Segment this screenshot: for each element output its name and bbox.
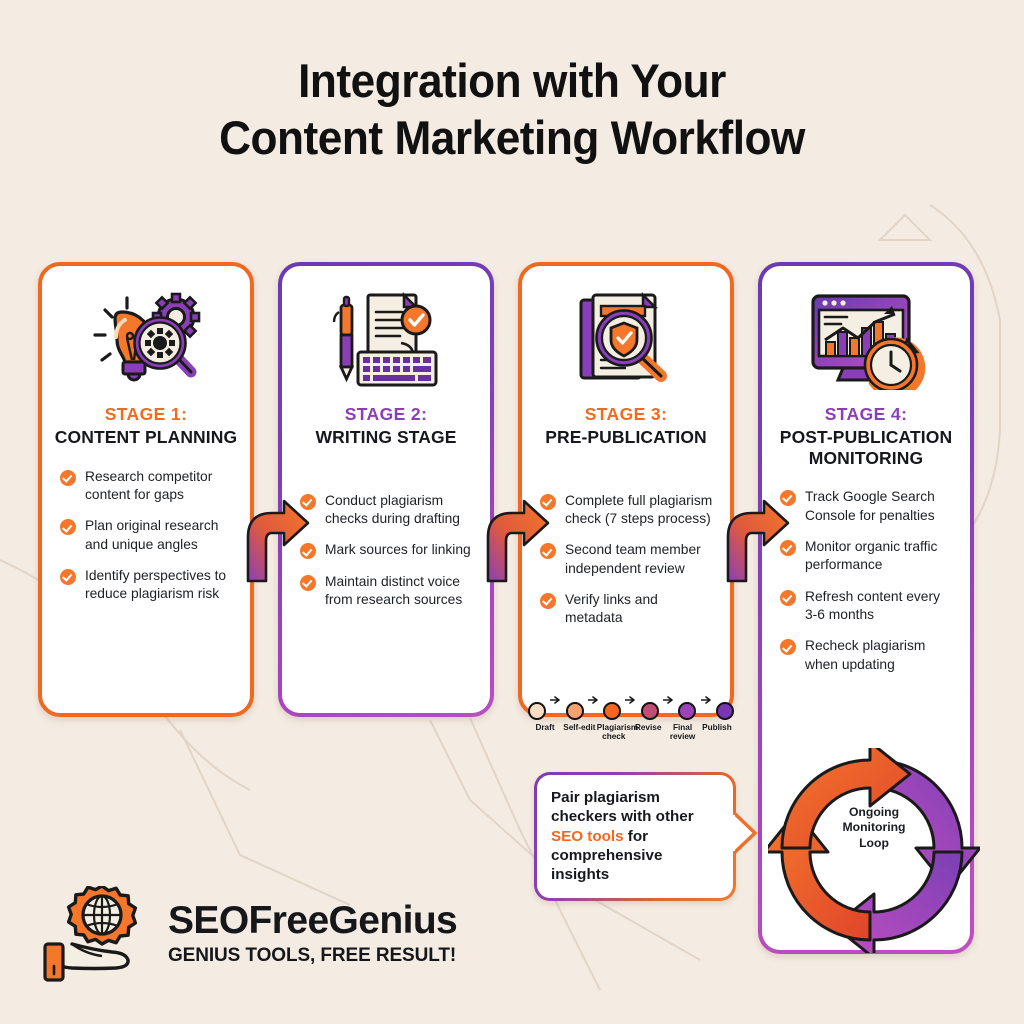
lightbulb-gear-magnifier-icon xyxy=(54,286,238,394)
stage-bullets-4: Track Google Search Console for penaltie… xyxy=(774,488,958,674)
check-icon xyxy=(540,593,556,609)
stage-kicker-3: STAGE 3: xyxy=(534,404,718,425)
list-item: Maintain distinct voice from research so… xyxy=(300,573,474,610)
check-icon xyxy=(780,639,796,655)
callout-highlight: SEO tools xyxy=(551,828,624,845)
stage-kicker-4: STAGE 4: xyxy=(774,404,958,425)
stage-card-2[interactable]: STAGE 2: WRITING STAGE Conduct plagiaris… xyxy=(278,262,494,717)
callout-text-before: Pair plagiarism checkers with other xyxy=(551,789,694,825)
timeline-dot-final-review xyxy=(678,702,696,720)
stage-name-3: PRE-PUBLICATION xyxy=(534,427,718,448)
list-item: Identify perspectives to reduce plagiari… xyxy=(60,567,234,604)
stage-name-2: WRITING STAGE xyxy=(294,427,478,448)
stage-name-1: CONTENT PLANNING xyxy=(54,427,238,448)
timeline-label: Final review xyxy=(666,723,700,741)
loop-label-line-2: Monitoring xyxy=(768,820,980,835)
list-item: Track Google Search Console for penaltie… xyxy=(780,488,954,525)
timeline-dots xyxy=(528,702,734,720)
stage-bullets-3: Complete full plagiarism check (7 steps … xyxy=(534,492,718,628)
list-item: Monitor organic traffic performance xyxy=(780,538,954,575)
list-item: Plan original research and unique angles xyxy=(60,517,234,554)
stage-card-1[interactable]: STAGE 1: CONTENT PLANNING Research compe… xyxy=(38,262,254,717)
timeline-labels: Draft Self-edit Plagiarism check Revise … xyxy=(528,723,734,741)
timeline-label: Draft xyxy=(528,723,562,741)
connector-arrow-1-to-2 xyxy=(238,497,312,583)
stage-kicker-1: STAGE 1: xyxy=(54,404,238,425)
brand-name: SEOFreeGenius xyxy=(168,901,457,940)
callout-text: Pair plagiarism checkers with other SEO … xyxy=(551,788,719,884)
loop-label-line-3: Loop xyxy=(768,836,980,851)
list-item: Mark sources for linking xyxy=(300,541,474,559)
brand-logo: SEOFreeGenius GENIUS TOOLS, FREE RESULT! xyxy=(42,886,457,982)
connector-arrow-3-to-4 xyxy=(718,497,792,583)
check-icon xyxy=(60,569,76,585)
timeline-dot-self-edit xyxy=(566,702,584,720)
timeline-arrow-icon xyxy=(625,695,636,705)
list-item: Recheck plagiarism when updating xyxy=(780,637,954,674)
timeline-dot-draft xyxy=(528,702,546,720)
loop-label: Ongoing Monitoring Loop xyxy=(768,805,980,851)
page-title: Integration with Your Content Marketing … xyxy=(31,52,994,167)
timeline-dot-plagiarism-check xyxy=(603,702,621,720)
check-icon xyxy=(60,519,76,535)
page-title-line-1: Integration with Your xyxy=(31,52,994,109)
document-shield-magnifier-icon xyxy=(534,286,718,394)
connector-arrow-2-to-3 xyxy=(478,497,552,583)
list-item: Complete full plagiarism check (7 steps … xyxy=(540,492,714,529)
page-title-line-2: Content Marketing Workflow xyxy=(31,109,994,166)
loop-label-line-1: Ongoing xyxy=(768,805,980,820)
timeline-arrow-icon xyxy=(701,695,712,705)
timeline-label: Publish xyxy=(700,723,734,741)
list-item: Refresh content every 3-6 months xyxy=(780,588,954,625)
stage-bullets-1: Research competitor content for gaps Pla… xyxy=(54,468,238,604)
list-item: Verify links and metadata xyxy=(540,591,714,628)
timeline-dot-publish xyxy=(716,702,734,720)
timeline-arrow-icon xyxy=(588,695,599,705)
monitor-chart-clock-icon xyxy=(774,286,958,394)
stage-bullets-2: Conduct plagiarism checks during draftin… xyxy=(294,492,478,610)
stage-kicker-2: STAGE 2: xyxy=(294,404,478,425)
timeline-dot-revise xyxy=(641,702,659,720)
check-icon xyxy=(780,590,796,606)
timeline-label: Revise xyxy=(631,723,665,741)
list-item: Research competitor content for gaps xyxy=(60,468,234,505)
stage-card-3[interactable]: STAGE 3: PRE-PUBLICATION Complete full p… xyxy=(518,262,734,717)
list-item: Second team member independent review xyxy=(540,541,714,578)
brand-tagline: GENIUS TOOLS, FREE RESULT! xyxy=(168,945,457,967)
check-icon xyxy=(60,470,76,486)
timeline-label: Self-edit xyxy=(562,723,596,741)
timeline-label: Plagiarism check xyxy=(597,723,631,741)
stage-name-4: POST-PUBLICATION MONITORING xyxy=(774,427,958,468)
callout-tail xyxy=(733,810,759,856)
gear-globe-in-hand-icon xyxy=(42,886,160,982)
list-item: Conduct plagiarism checks during draftin… xyxy=(300,492,474,529)
brand-text: SEOFreeGenius GENIUS TOOLS, FREE RESULT! xyxy=(168,901,457,967)
timeline-arrow-icon xyxy=(663,695,674,705)
timeline-arrow-icon xyxy=(550,695,561,705)
pen-document-keyboard-icon xyxy=(294,286,478,394)
publication-timeline: Draft Self-edit Plagiarism check Revise … xyxy=(528,702,734,741)
callout-box: Pair plagiarism checkers with other SEO … xyxy=(534,772,736,901)
